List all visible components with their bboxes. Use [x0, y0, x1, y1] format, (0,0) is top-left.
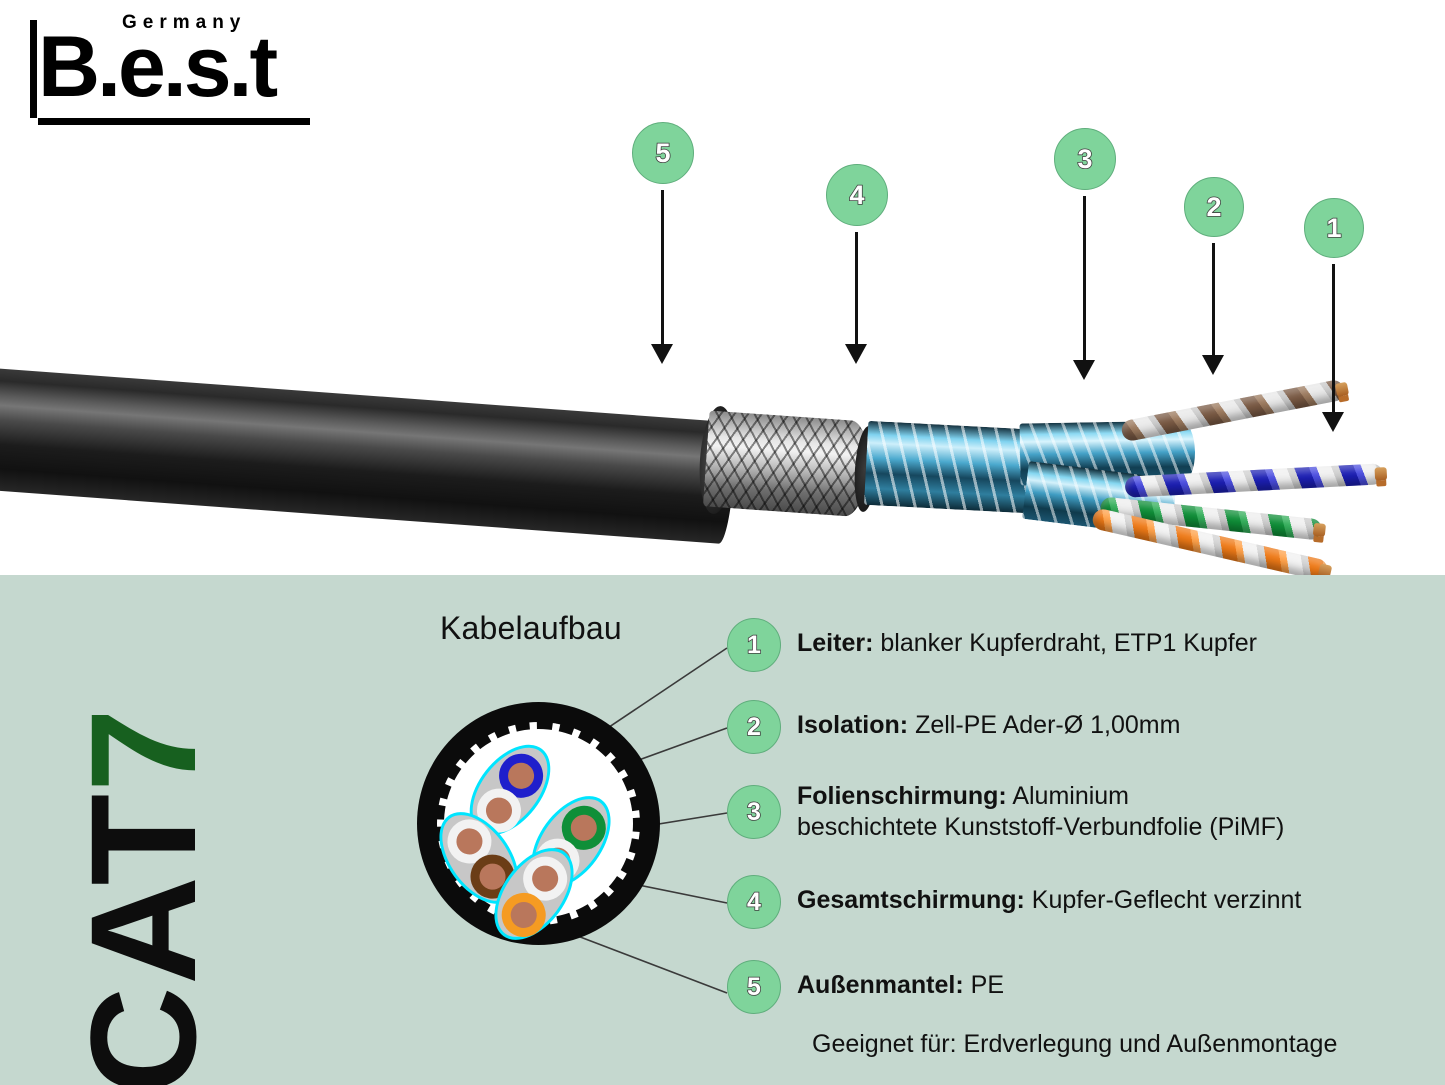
- spec-badge-3: 3: [727, 785, 781, 839]
- photo-callout-badge-5: 5: [632, 122, 694, 184]
- cable-photograph: [0, 330, 1445, 575]
- photo-callout-number-3: 3: [1077, 146, 1092, 173]
- photo-callout-arrow-line-5: [661, 190, 664, 346]
- photo-callout-number-1: 1: [1326, 215, 1341, 242]
- spec-number-4: 4: [747, 890, 761, 915]
- logo-underline: [38, 118, 310, 125]
- spec-text-3: Folienschirmung: Aluminium beschichtete …: [797, 781, 1284, 842]
- spec-term-5: Außenmantel:: [797, 971, 964, 999]
- cable-photo-panel: Germany B.e.s.t 5 4: [0, 0, 1445, 575]
- spec-number-1: 1: [747, 633, 761, 658]
- photo-callout-arrow-line-1: [1332, 264, 1335, 414]
- spec-term-3: Folienschirmung:: [797, 782, 1007, 810]
- suitability-note: Geeignet für: Erdverlegung und Außenmont…: [812, 1030, 1337, 1059]
- photo-callout-number-5: 5: [655, 140, 670, 167]
- photo-callout-arrow-line-3: [1083, 196, 1086, 362]
- spec-badge-5: 5: [727, 960, 781, 1014]
- conductor-tip-green: [1313, 523, 1326, 537]
- spec-text-1: Leiter: blanker Kupferdraht, ETP1 Kupfer: [797, 628, 1257, 659]
- photo-callout-arrow-head-3: [1073, 360, 1095, 380]
- conductor-tip-orange: [1318, 563, 1333, 575]
- photo-callout-arrow-line-2: [1212, 243, 1215, 357]
- spec-text-5: Außenmantel: PE: [797, 970, 1004, 1001]
- cat7-number: 7: [59, 706, 227, 791]
- spec-value-3-line2: beschichtete Kunststoff-Verbundfolie (Pi…: [797, 812, 1284, 843]
- spec-value-4: Kupfer-Geflecht verzinnt: [1032, 886, 1302, 914]
- cable-braid-shield: [703, 410, 871, 517]
- spec-text-4: Gesamtschirmung: Kupfer-Geflecht verzinn…: [797, 885, 1301, 916]
- twisted-pair-brown: [1120, 379, 1346, 443]
- spec-badge-4: 4: [727, 875, 781, 929]
- spec-badge-1: 1: [727, 618, 781, 672]
- spec-value-5: PE: [971, 971, 1004, 999]
- photo-callout-badge-2: 2: [1184, 177, 1244, 237]
- photo-callout-badge-1: 1: [1304, 198, 1364, 258]
- logo-left-bar: [30, 20, 37, 118]
- cat7-prefix: CAT: [59, 792, 227, 1085]
- conductor-tip-blue: [1374, 467, 1387, 481]
- photo-callout-arrow-line-4: [855, 232, 858, 346]
- logo-brand-name: B.e.s.t: [38, 24, 275, 110]
- spec-term-1: Leiter:: [797, 629, 873, 657]
- spec-term-2: Isolation:: [797, 711, 908, 739]
- product-infographic: Germany B.e.s.t 5 4: [0, 0, 1445, 1085]
- photo-callout-number-2: 2: [1206, 194, 1221, 221]
- conductor-tip-brown: [1335, 382, 1349, 397]
- spec-term-4: Gesamtschirmung:: [797, 886, 1025, 914]
- cable-cross-section-diagram: [417, 702, 660, 945]
- cat7-vertical-label: CAT7: [68, 665, 218, 1085]
- photo-callout-badge-3: 3: [1054, 128, 1116, 190]
- spec-value-3: Aluminium: [1012, 782, 1129, 810]
- photo-callout-number-4: 4: [849, 182, 864, 209]
- photo-callout-arrow-head-5: [651, 344, 673, 364]
- spec-value-1: blanker Kupferdraht, ETP1 Kupfer: [880, 629, 1257, 657]
- photo-callout-badge-4: 4: [826, 164, 888, 226]
- photo-callout-arrow-head-1: [1322, 412, 1344, 432]
- spec-number-5: 5: [747, 975, 761, 1000]
- photo-callout-arrow-head-4: [845, 344, 867, 364]
- spec-value-2: Zell-PE Ader-Ø 1,00mm: [915, 711, 1180, 739]
- spec-text-2: Isolation: Zell-PE Ader-Ø 1,00mm: [797, 710, 1180, 741]
- photo-callout-arrow-head-2: [1202, 355, 1224, 375]
- cable-outer-jacket: [0, 368, 737, 544]
- brand-logo: Germany B.e.s.t: [18, 6, 308, 118]
- spec-badge-2: 2: [727, 700, 781, 754]
- spec-number-2: 2: [747, 715, 761, 740]
- diagram-title: Kabelaufbau: [440, 610, 622, 647]
- spec-number-3: 3: [747, 800, 761, 825]
